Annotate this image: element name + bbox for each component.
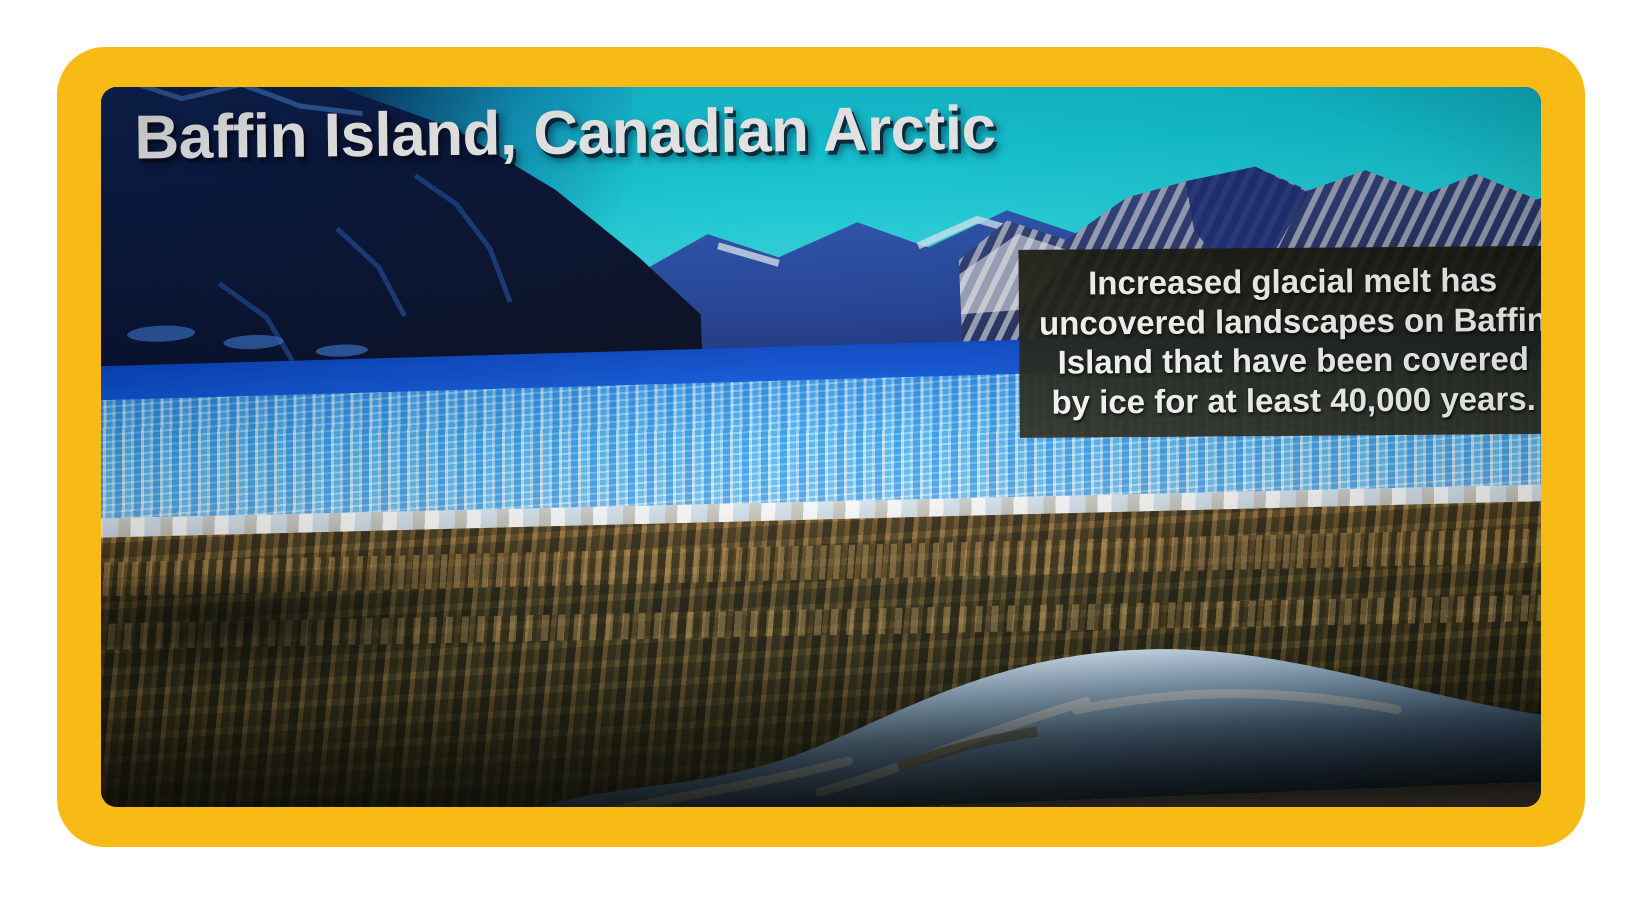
slide-title: Baffin Island, Canadian Arctic (134, 91, 1135, 173)
presentation-slide: Baffin Island, Canadian Arctic Increased… (101, 87, 1541, 807)
conference-photo: ENT MALAYSIAN KUALA LUMPUR (101, 87, 1541, 807)
projection-screen: Baffin Island, Canadian Arctic Increased… (101, 87, 1541, 807)
slide-caption-box: Increased glacial melt has uncovered lan… (1018, 246, 1541, 439)
yellow-photo-frame: ENT MALAYSIAN KUALA LUMPUR (57, 47, 1585, 847)
slide-caption-text: Increased glacial melt has uncovered lan… (1035, 260, 1541, 422)
